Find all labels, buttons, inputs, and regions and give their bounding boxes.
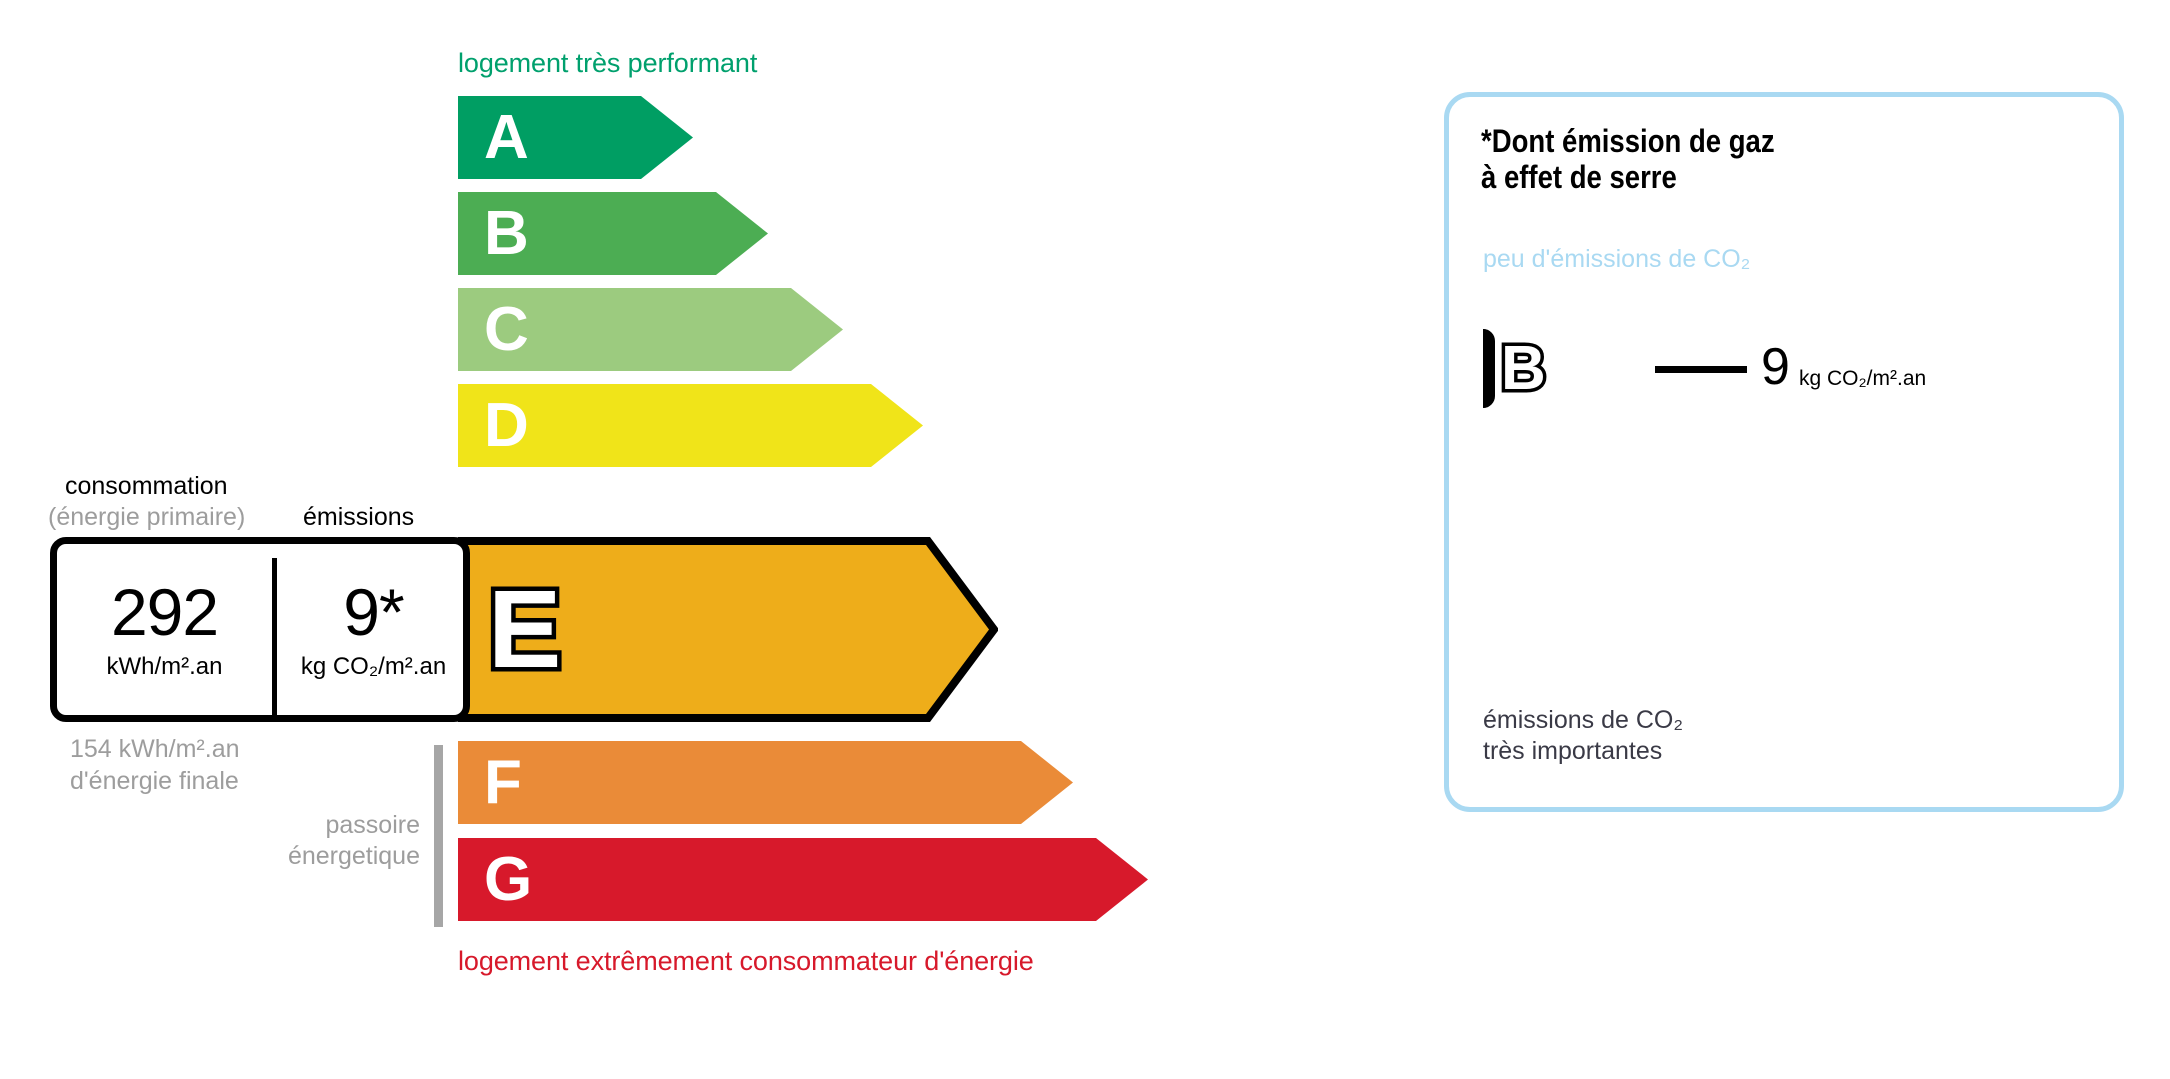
chart-bottom-caption: logement extrêmement consommateur d'éner… <box>458 946 1034 977</box>
co2-grade-row-e: E <box>1483 509 1751 550</box>
co2-grade-row-d: D <box>1483 463 1708 504</box>
energy-grade-row-c: C <box>458 288 843 371</box>
energy-grade-row-e: E <box>458 537 998 722</box>
co2-bottom-line2: très importantes <box>1483 736 1683 767</box>
emission-unit: kg CO₂/m².an <box>301 653 446 681</box>
energy-grade-row-g: G <box>458 838 1148 921</box>
grade-letter-c: C <box>484 299 529 361</box>
energy-value-box: 292 kWh/m².an 9* kg CO₂/m².an <box>50 537 470 722</box>
grade-letter-a: A <box>484 107 529 169</box>
co2-top-caption: peu d'émissions de CO₂ <box>1483 245 1750 274</box>
consumption-label: consommation <box>65 472 228 501</box>
passoire-line2: énergetique <box>285 841 420 872</box>
consumption-value-cell: 292 kWh/m².an <box>57 544 272 715</box>
co2-grade-row-b: B <box>1483 329 1633 408</box>
co2-bottom-caption: émissions de CO₂ très importantes <box>1483 705 1683 768</box>
energy-grade-row-d: D <box>458 384 923 467</box>
co2-letter-b: B <box>1501 338 1546 400</box>
grade-letter-e: E <box>488 575 561 685</box>
co2-title-line2: à effet de serre <box>1481 159 1775 195</box>
consumption-sublabel: (énergie primaire) <box>48 503 245 532</box>
co2-letter-f: F <box>1499 559 1519 592</box>
passoire-divider-rule <box>434 745 443 927</box>
energy-grade-row-f: F <box>458 741 1073 824</box>
co2-leader-line <box>1655 366 1747 373</box>
co2-value-unit: kg CO₂/m².an <box>1799 367 1926 391</box>
grade-letter-f: F <box>484 752 522 814</box>
co2-grade-row-f: F <box>1483 555 1793 596</box>
grade-letter-b: B <box>484 203 529 265</box>
consumption-unit: kWh/m².an <box>106 653 222 681</box>
co2-grade-row-g: G <box>1483 602 1835 643</box>
final-energy-line2: d'énergie finale <box>70 765 240 797</box>
co2-grade-row-c: C <box>1483 417 1676 458</box>
co2-letter-g: G <box>1499 606 1525 639</box>
emissions-label: émissions <box>303 503 414 532</box>
final-energy-note: 154 kWh/m².an d'énergie finale <box>70 733 240 797</box>
co2-title-line1: *Dont émission de gaz <box>1481 123 1775 159</box>
co2-value: 9 <box>1761 341 1790 393</box>
final-energy-line1: 154 kWh/m².an <box>70 733 240 765</box>
grade-letter-g: G <box>484 849 532 911</box>
co2-letter-d: D <box>1499 467 1523 500</box>
emission-value-cell: 9* kg CO₂/m².an <box>277 544 470 715</box>
passoire-line1: passoire <box>285 810 420 841</box>
consumption-value: 292 <box>111 579 218 645</box>
passoire-energetique-note: passoire énergetique <box>285 810 420 871</box>
co2-bottom-line1: émissions de CO₂ <box>1483 705 1683 736</box>
co2-letter-c: C <box>1499 421 1523 454</box>
grade-letter-d: D <box>484 395 529 457</box>
co2-panel-title: *Dont émission de gaz à effet de serre <box>1481 123 1775 196</box>
co2-letter-e: E <box>1499 513 1521 546</box>
energy-grade-row-b: B <box>458 192 768 275</box>
energy-grade-row-a: A <box>458 96 693 179</box>
emission-value: 9* <box>343 579 403 645</box>
co2-grade-row-a: A <box>1483 282 1588 323</box>
energy-performance-chart: logement très performant ABCDEFG logemen… <box>0 0 1320 1079</box>
co2-emissions-panel: *Dont émission de gaz à effet de serre p… <box>1444 92 2124 812</box>
co2-letter-a: A <box>1499 286 1523 319</box>
chart-top-caption: logement très performant <box>458 48 757 79</box>
